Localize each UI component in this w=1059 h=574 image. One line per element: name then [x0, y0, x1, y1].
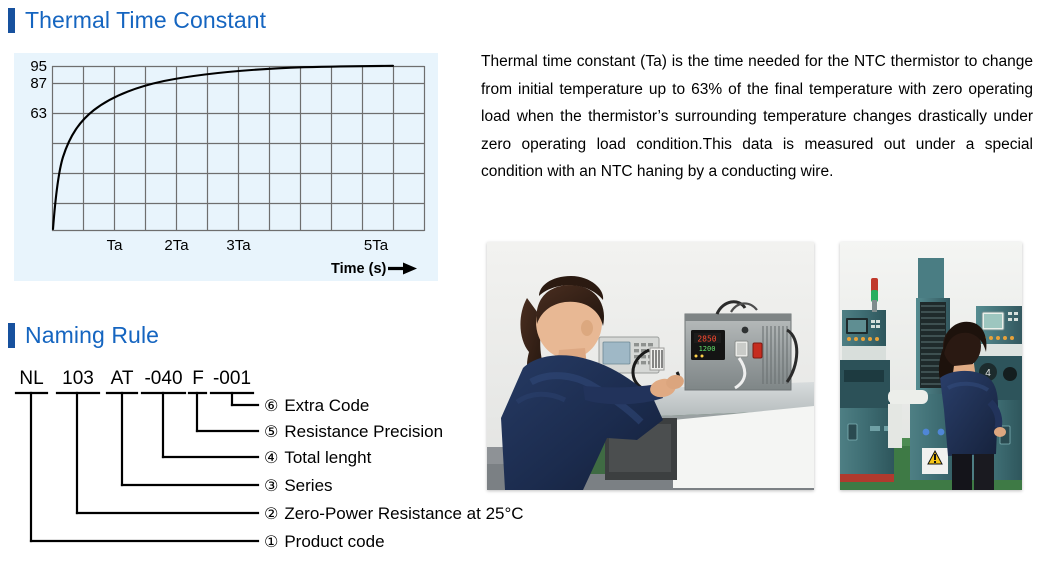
svg-text:87: 87: [30, 75, 47, 92]
legend-number-1: ①: [264, 533, 278, 553]
accent-bar-icon: [8, 8, 15, 33]
svg-text:2Ta: 2Ta: [164, 237, 189, 254]
legend-item-2: ② Zero-Power Resistance at 25°C: [264, 504, 524, 525]
legend-label-1: Product code: [284, 532, 384, 552]
photo-lab-measurement-station: 2850 1200: [487, 242, 814, 490]
legend-item-6: ⑥ Extra Code: [264, 396, 369, 417]
svg-text:1200: 1200: [699, 345, 716, 353]
svg-text:5Ta: 5Ta: [364, 237, 389, 254]
photo-production-floor: 4: [840, 242, 1022, 490]
legend-label-3: Series: [284, 476, 332, 496]
accent-bar-icon: [8, 323, 15, 348]
legend-number-4: ④: [264, 449, 278, 469]
thermal-description-text: Thermal time constant (Ta) is the time n…: [481, 48, 1033, 186]
svg-text:2850: 2850: [697, 335, 716, 344]
legend-item-4: ④ Total lenght: [264, 448, 371, 469]
legend-number-2: ②: [264, 505, 278, 525]
legend-number-6: ⑥: [264, 397, 278, 417]
naming-rule-diagram: NL 103 AT -040 F -001: [0, 358, 490, 563]
legend-label-4: Total lenght: [284, 448, 371, 468]
svg-text:3Ta: 3Ta: [226, 237, 251, 254]
legend-number-5: ⑤: [264, 423, 278, 443]
section-title-thermal: Thermal Time Constant: [25, 9, 266, 32]
legend-label-6: Extra Code: [284, 396, 369, 416]
svg-text:Ta: Ta: [107, 237, 124, 254]
legend-item-5: ⑤ Resistance Precision: [264, 422, 443, 443]
section-title-naming: Naming Rule: [25, 324, 159, 347]
legend-label-2: Zero-Power Resistance at 25°C: [284, 504, 523, 524]
svg-text:63: 63: [30, 105, 47, 122]
legend-item-1: ① Product code: [264, 532, 385, 553]
legend-label-5: Resistance Precision: [284, 422, 443, 442]
legend-number-3: ③: [264, 477, 278, 497]
section-heading-naming: Naming Rule: [8, 323, 159, 348]
section-heading-thermal: Thermal Time Constant: [8, 8, 266, 33]
legend-item-3: ③ Series: [264, 476, 333, 497]
svg-text:Time (s): Time (s): [331, 261, 387, 277]
thermal-time-constant-chart: 95 87 63 Ta 2Ta 3Ta 5Ta Time (s): [14, 53, 438, 281]
thermal-description: Thermal time constant (Ta) is the time n…: [481, 48, 1033, 186]
svg-text:95: 95: [30, 58, 47, 75]
